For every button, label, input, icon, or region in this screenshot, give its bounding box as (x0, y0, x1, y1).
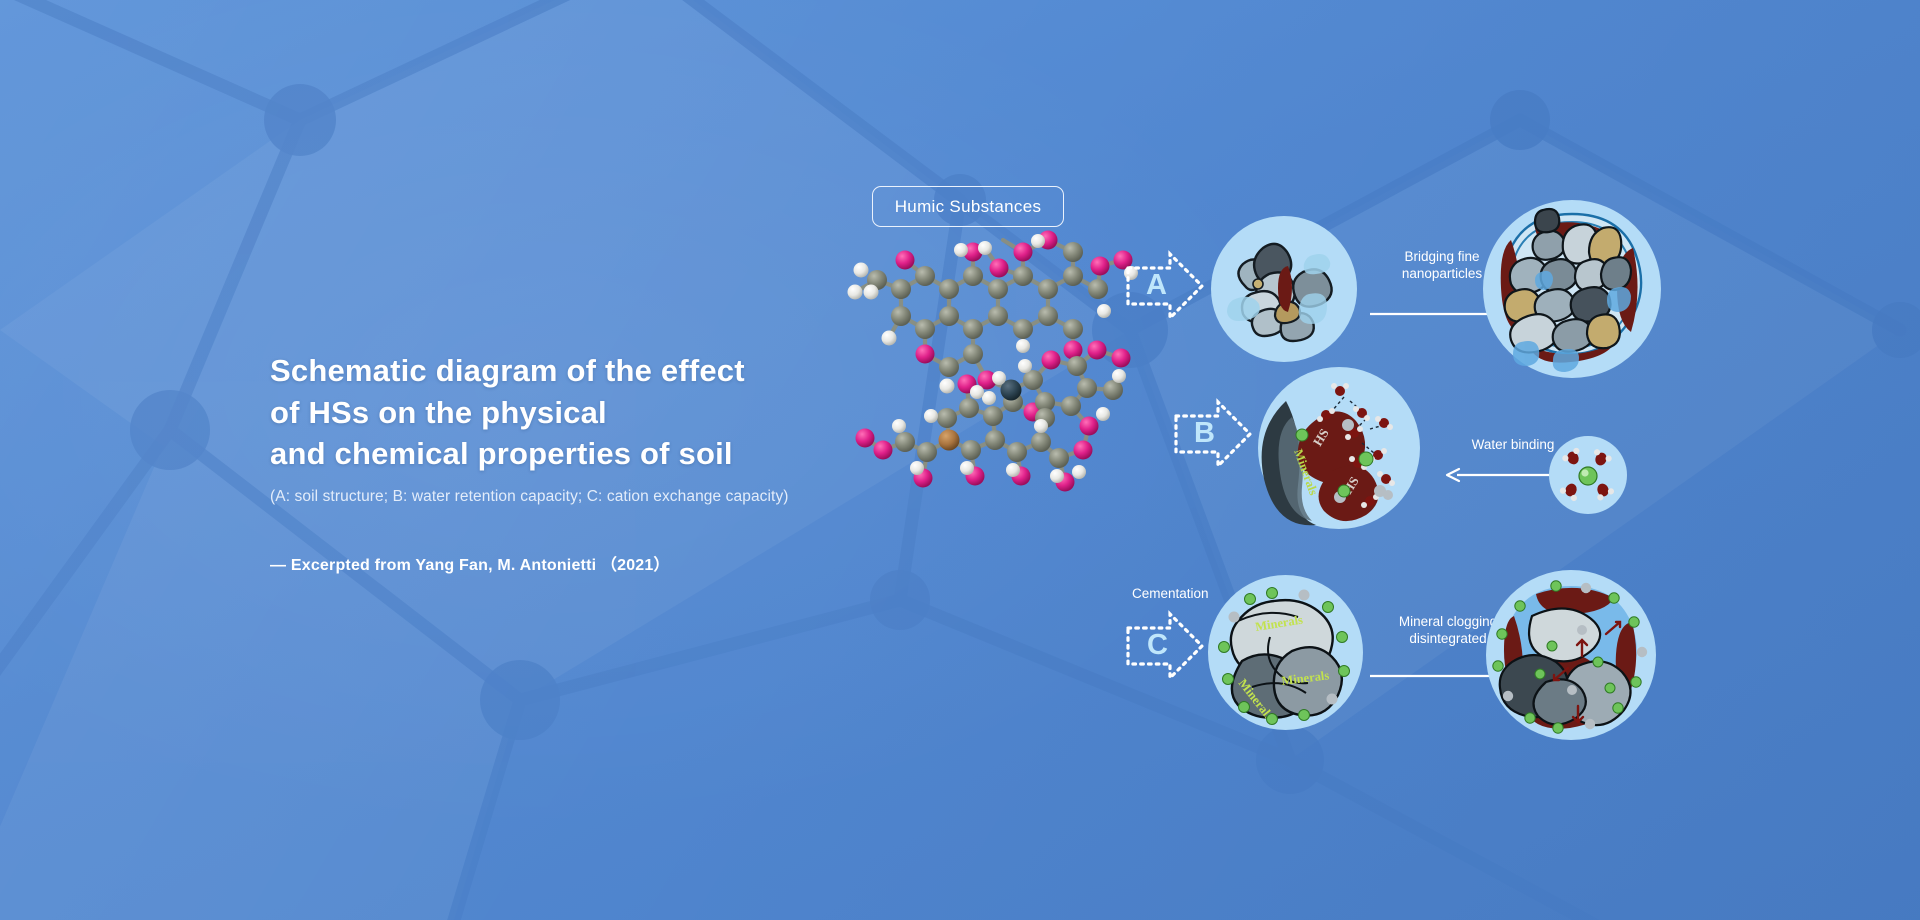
oxygen-atoms (856, 231, 1133, 492)
poster-canvas: Schematic diagram of the effect of HSs o… (0, 0, 1920, 920)
sulfur-atom (939, 430, 960, 451)
row-c-letter: C (1147, 631, 1168, 660)
mineral-disintegrated-circle (1486, 570, 1656, 740)
row-a-letter: A (1146, 271, 1167, 300)
page-title-line-3: and chemical properties of soil (270, 433, 890, 475)
soil-aggregate-bridged-circle (1483, 200, 1661, 378)
headline-block: Schematic diagram of the effect of HSs o… (270, 350, 890, 575)
source-byline: — Excerpted from Yang Fan, M. Antonietti… (270, 551, 890, 575)
soil-aggregate-loose-circle (1211, 216, 1357, 362)
page-subtitle: (A: soil structure; B: water retention c… (270, 488, 890, 506)
humic-substances-chip-label: Humic Substances (895, 197, 1042, 217)
page-title-line-2: of HSs on the physical (270, 392, 890, 434)
hydrated-cation-circle (1549, 436, 1627, 514)
hs-mineral-water-circle: HS HS Minerals (1258, 367, 1420, 529)
page-title: Schematic diagram of the effect of HSs o… (270, 350, 890, 475)
row-b-letter: B (1194, 419, 1215, 448)
page-title-line-1: Schematic diagram of the effect (270, 350, 890, 392)
humic-substances-chip[interactable]: Humic Substances (872, 186, 1064, 227)
mineral-clogged-circle: Minerals Minerals Minerals (1208, 575, 1363, 730)
